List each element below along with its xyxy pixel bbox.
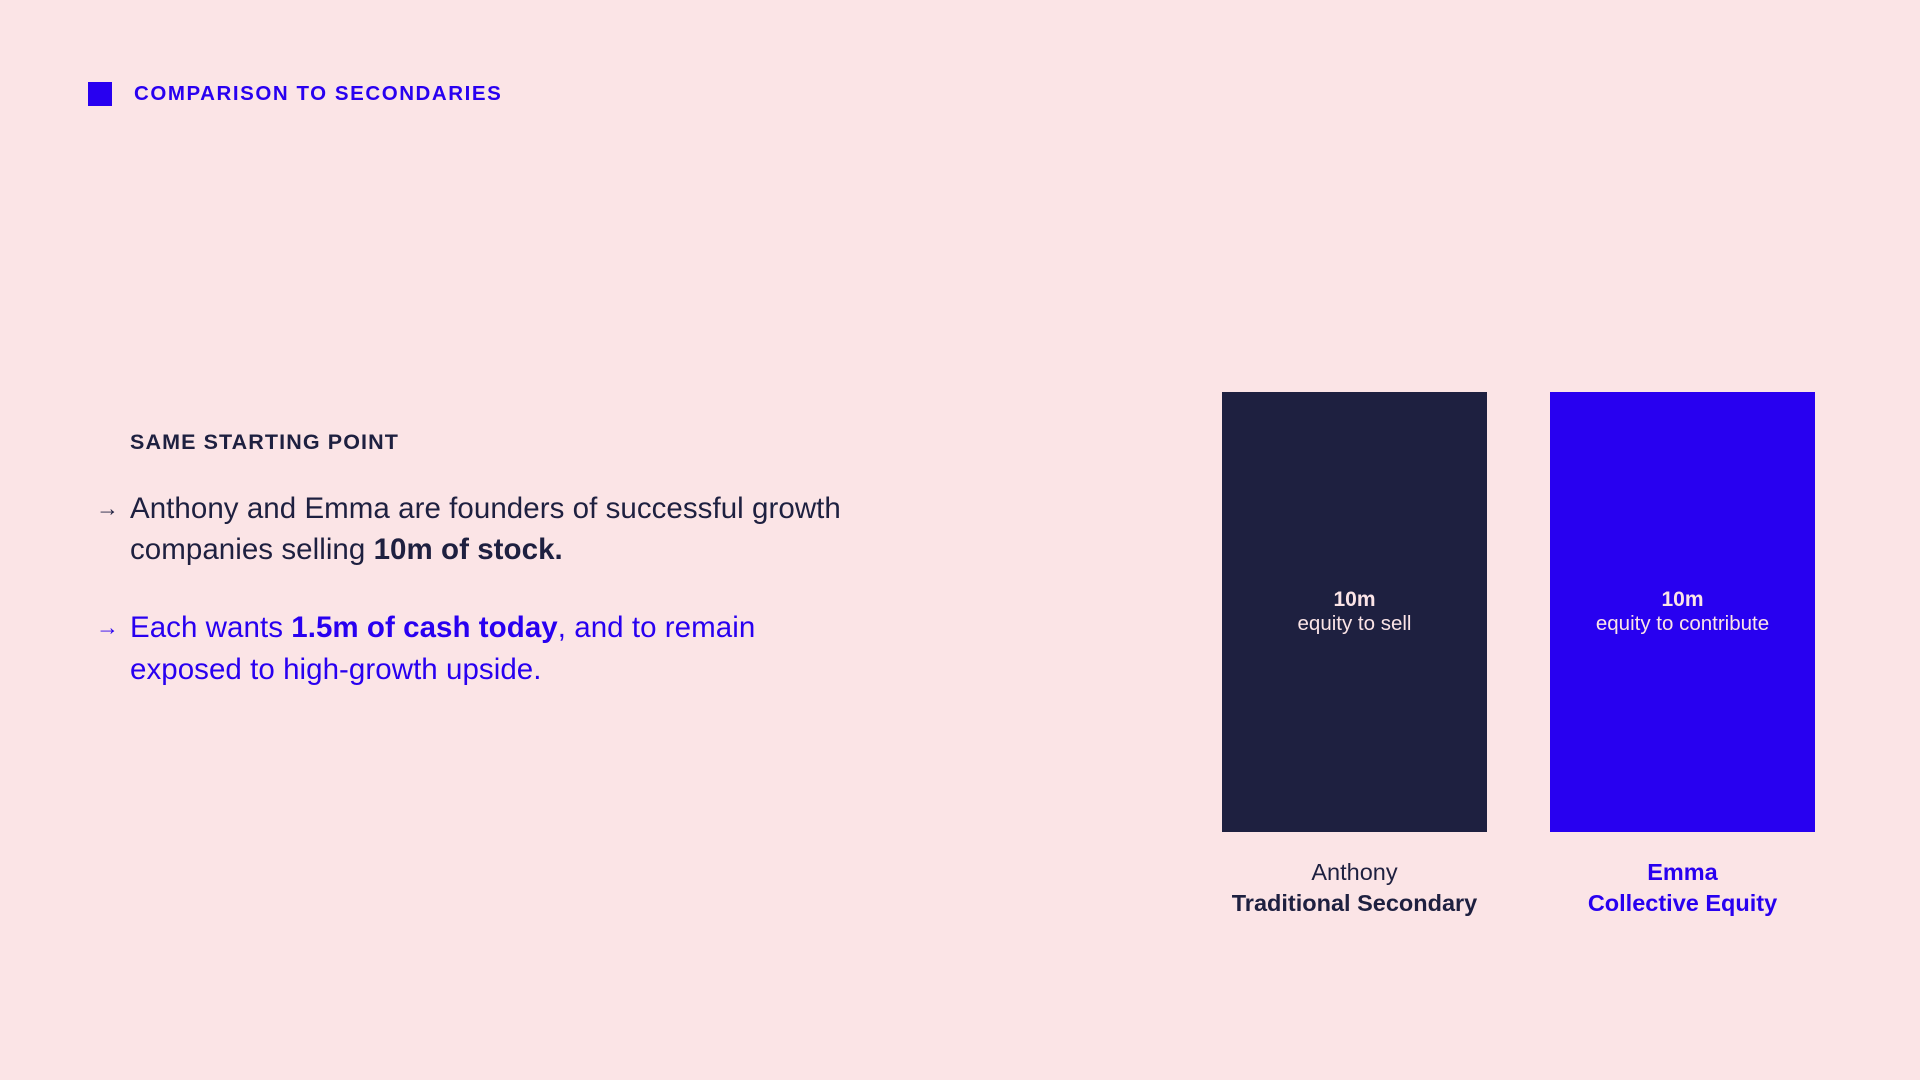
bullet-item: → Each wants 1.5m of cash today, and to … <box>96 607 850 691</box>
bar-person-name: Anthony <box>1232 857 1478 888</box>
bullet-text: Anthony and Emma are founders of success… <box>130 488 850 572</box>
bar-person-subtitle: Collective Equity <box>1588 888 1777 919</box>
arrow-right-icon: → <box>96 607 130 639</box>
bar-caption-label: equity to sell <box>1298 612 1412 636</box>
bar-person-name: Emma <box>1588 857 1777 888</box>
square-bullet-icon <box>88 82 112 106</box>
arrow-right-icon: → <box>96 488 130 520</box>
left-text-column: SAME STARTING POINT → Anthony and Emma a… <box>130 432 850 691</box>
bar-value-label: 10m <box>1661 588 1703 613</box>
bullet-text-strong: 10m of stock. <box>374 533 563 566</box>
kicker-heading: SAME STARTING POINT <box>130 432 850 454</box>
chart-column-anthony: 10m equity to sell Anthony Traditional S… <box>1222 392 1487 920</box>
bar-caption-label: equity to contribute <box>1596 612 1769 636</box>
chart-column-emma: 10m equity to contribute Emma Collective… <box>1550 392 1815 920</box>
bullet-item: → Anthony and Emma are founders of succe… <box>96 488 850 572</box>
bar-axis-label-emma: Emma Collective Equity <box>1588 857 1777 920</box>
comparison-bar-chart: 10m equity to sell Anthony Traditional S… <box>1222 392 1815 920</box>
bullet-text: Each wants 1.5m of cash today, and to re… <box>130 607 850 691</box>
section-eyebrow-label: COMPARISON TO SECONDARIES <box>134 84 502 105</box>
bullet-text-lead: Each wants <box>130 611 291 644</box>
section-eyebrow: COMPARISON TO SECONDARIES <box>88 82 502 106</box>
bar-anthony: 10m equity to sell <box>1222 392 1487 832</box>
bar-value-label: 10m <box>1333 588 1375 613</box>
bullet-text-strong: 1.5m of cash today <box>291 611 558 644</box>
bar-axis-label-anthony: Anthony Traditional Secondary <box>1232 857 1478 920</box>
bar-emma: 10m equity to contribute <box>1550 392 1815 832</box>
bar-person-subtitle: Traditional Secondary <box>1232 888 1478 919</box>
